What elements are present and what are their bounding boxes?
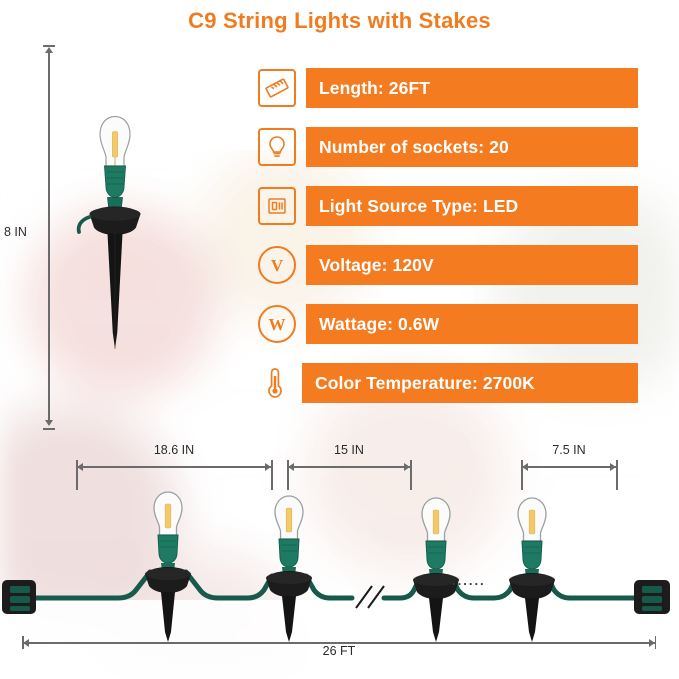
light-string-illustration bbox=[0, 480, 679, 650]
spec-list: Length: 26FT Number of sockets: 20 bbox=[258, 68, 638, 422]
spec-row-sockets: Number of sockets: 20 bbox=[258, 127, 638, 167]
led-chip-icon bbox=[258, 187, 296, 225]
spacing-middle-measure: 15 IN bbox=[287, 460, 411, 474]
spacing-end-label: 7.5 IN bbox=[521, 443, 617, 457]
ruler-icon bbox=[258, 69, 296, 107]
spec-text-light-source: Light Source Type: LED bbox=[306, 186, 638, 226]
total-length-measure: 26 FT bbox=[22, 636, 656, 650]
spacing-end-measure: 7.5 IN bbox=[521, 460, 617, 474]
spec-row-color-temperature: Color Temperature: 2700K bbox=[258, 363, 638, 403]
string-layout-diagram: 18.6 IN 15 IN 7.5 IN bbox=[0, 440, 679, 679]
bulb-with-stake-illustration bbox=[70, 40, 160, 430]
spec-row-length: Length: 26FT bbox=[258, 68, 638, 108]
voltage-icon: V bbox=[258, 246, 296, 284]
spec-row-wattage: W Wattage: 0.6W bbox=[258, 304, 638, 344]
spec-text-voltage: Voltage: 120V bbox=[306, 245, 638, 285]
wattage-icon: W bbox=[258, 305, 296, 343]
wattage-icon-glyph: W bbox=[269, 316, 286, 333]
thermometer-icon bbox=[258, 366, 292, 400]
spacing-first-measure: 18.6 IN bbox=[76, 460, 272, 474]
total-length-label: 26 FT bbox=[22, 644, 656, 658]
lightbulb-icon bbox=[258, 128, 296, 166]
product-infographic: C9 String Lights with Stakes 8 IN bbox=[0, 0, 679, 679]
spacing-first-label: 18.6 IN bbox=[76, 443, 272, 457]
spec-row-light-source: Light Source Type: LED bbox=[258, 186, 638, 226]
spec-text-length: Length: 26FT bbox=[306, 68, 638, 108]
spec-row-voltage: V Voltage: 120V bbox=[258, 245, 638, 285]
bulb-height-label: 8 IN bbox=[4, 225, 27, 239]
spec-text-color-temperature: Color Temperature: 2700K bbox=[302, 363, 638, 403]
spec-text-sockets: Number of sockets: 20 bbox=[306, 127, 638, 167]
page-title: C9 String Lights with Stakes bbox=[0, 8, 679, 34]
spacing-middle-label: 15 IN bbox=[287, 443, 411, 457]
continuation-dots: ...... bbox=[452, 573, 486, 588]
voltage-icon-glyph: V bbox=[271, 257, 283, 274]
bulb-height-measure: 8 IN bbox=[48, 45, 50, 430]
spec-text-wattage: Wattage: 0.6W bbox=[306, 304, 638, 344]
